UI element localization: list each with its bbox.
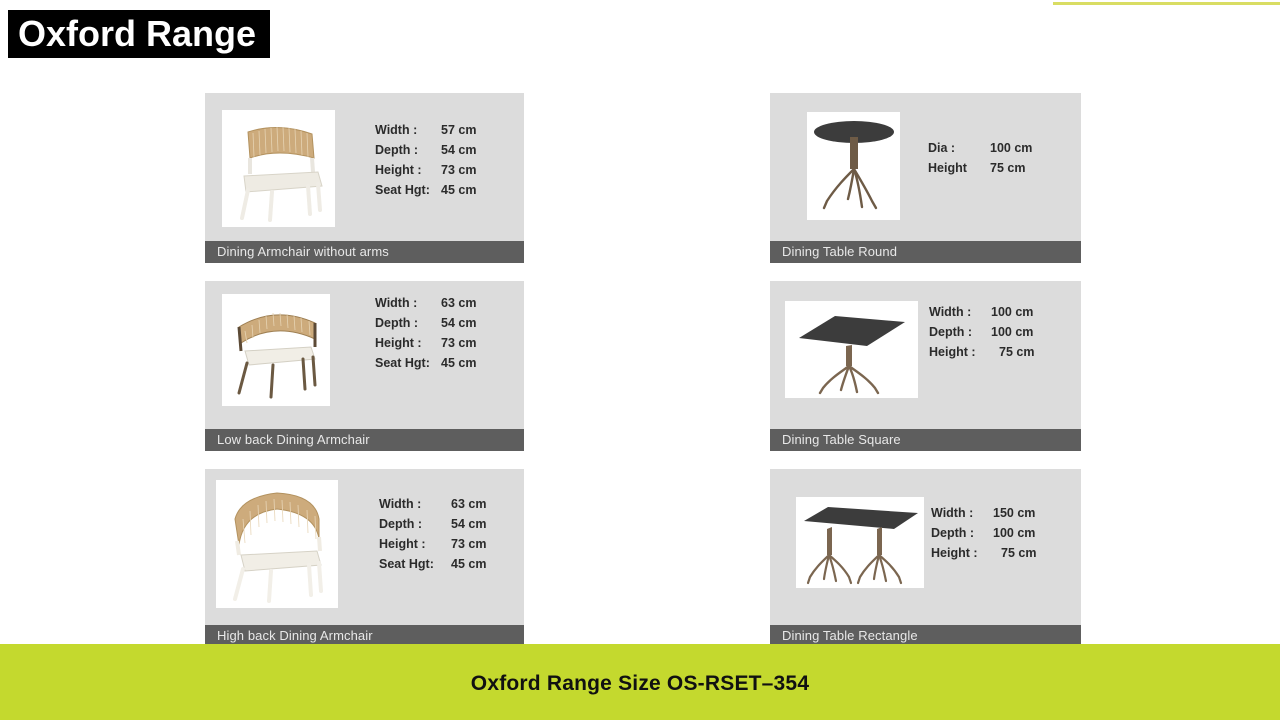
spec-row: Height : 73 cm [375, 160, 524, 180]
spec-row: Seat Hgt: 45 cm [375, 180, 524, 200]
spec-label: Depth : [379, 514, 451, 534]
spec-value: 73 cm [451, 534, 486, 554]
spec-label: Width : [375, 293, 441, 313]
tables-column: Dia : 100 cm Height 75 cm Dining Table R… [770, 93, 1081, 647]
card-body: Width : 63 cm Depth : 54 cm Height : 73 … [205, 469, 524, 625]
card-body: Width : 63 cm Depth : 54 cm Height : 73 … [205, 281, 524, 429]
card-gap [770, 451, 1081, 469]
spec-value: 73 cm [441, 160, 476, 180]
spec-label: Depth : [375, 313, 441, 333]
chair-no-arms-icon [226, 114, 331, 224]
spec-row: Seat Hgt: 45 cm [379, 554, 524, 574]
spec-label: Height : [379, 534, 451, 554]
card-label: Dining Table Square [770, 429, 1081, 451]
product-card[interactable]: Width : 100 cm Depth : 100 cm Height : 7… [770, 281, 1081, 451]
spec-value: 150 cm [993, 503, 1035, 523]
spec-list: Width : 150 cm Depth : 100 cm Height : 7… [931, 503, 1081, 563]
spec-row: Height : 73 cm [379, 534, 524, 554]
spec-label: Width : [375, 120, 441, 140]
spec-value: 75 cm [991, 342, 1034, 362]
table-square-icon [789, 304, 915, 396]
spec-list: Width : 63 cm Depth : 54 cm Height : 73 … [379, 494, 524, 574]
card-label: Dining Armchair without arms [205, 241, 524, 263]
chairs-column: Width : 57 cm Depth : 54 cm Height : 73 … [205, 93, 524, 647]
spec-row: Depth : 100 cm [929, 322, 1081, 342]
spec-value: 45 cm [451, 554, 486, 574]
spec-value: 57 cm [441, 120, 476, 140]
table-round-icon [810, 115, 898, 217]
product-card[interactable]: Dia : 100 cm Height 75 cm Dining Table R… [770, 93, 1081, 263]
spec-list: Dia : 100 cm Height 75 cm [928, 138, 1081, 178]
spec-list: Width : 100 cm Depth : 100 cm Height : 7… [929, 302, 1081, 362]
spec-value: 100 cm [991, 322, 1033, 342]
spec-value: 100 cm [993, 523, 1035, 543]
spec-value: 54 cm [441, 313, 476, 333]
card-body: Dia : 100 cm Height 75 cm [770, 93, 1081, 241]
spec-row: Height : 75 cm [929, 342, 1081, 362]
card-body: Width : 57 cm Depth : 54 cm Height : 73 … [205, 93, 524, 241]
product-thumbnail [222, 110, 335, 227]
spec-value: 54 cm [451, 514, 486, 534]
product-card[interactable]: Width : 57 cm Depth : 54 cm Height : 73 … [205, 93, 524, 263]
card-body: Width : 150 cm Depth : 100 cm Height : 7… [770, 469, 1081, 625]
spec-label: Dia : [928, 138, 990, 158]
card-gap [205, 263, 524, 281]
spec-label: Depth : [375, 140, 441, 160]
spec-label: Height : [375, 333, 441, 353]
spec-row: Height : 73 cm [375, 333, 524, 353]
card-gap [770, 263, 1081, 281]
spec-row: Width : 57 cm [375, 120, 524, 140]
spec-label: Depth : [929, 322, 991, 342]
spec-value: 73 cm [441, 333, 476, 353]
product-card[interactable]: Width : 150 cm Depth : 100 cm Height : 7… [770, 469, 1081, 647]
spec-value: 45 cm [441, 353, 476, 373]
spec-label: Width : [931, 503, 993, 523]
product-thumbnail [796, 497, 924, 588]
top-accent-rule [1053, 2, 1280, 5]
spec-value: 100 cm [990, 138, 1032, 158]
chair-low-back-icon [225, 297, 327, 403]
spec-row: Depth : 54 cm [375, 140, 524, 160]
spec-row: Height 75 cm [928, 158, 1081, 178]
card-body: Width : 100 cm Depth : 100 cm Height : 7… [770, 281, 1081, 429]
spec-row: Depth : 100 cm [931, 523, 1081, 543]
spec-row: Height : 75 cm [931, 543, 1081, 563]
spec-value: 63 cm [451, 494, 486, 514]
spec-row: Seat Hgt: 45 cm [375, 353, 524, 373]
spec-label: Seat Hgt: [375, 353, 441, 373]
chair-high-back-icon [219, 483, 335, 605]
spec-value: 54 cm [441, 140, 476, 160]
card-label: Dining Table Round [770, 241, 1081, 263]
spec-list: Width : 63 cm Depth : 54 cm Height : 73 … [375, 293, 524, 373]
spec-value: 75 cm [990, 158, 1048, 178]
card-gap [205, 451, 524, 469]
page-title: Oxford Range [8, 10, 270, 58]
table-rectangle-icon [798, 499, 922, 587]
spec-label: Depth : [931, 523, 993, 543]
spec-label: Seat Hgt: [375, 180, 441, 200]
footer-bar: Oxford Range Size OS-RSET–354 [0, 644, 1280, 720]
spec-label: Height [928, 158, 990, 178]
product-thumbnail [785, 301, 918, 398]
product-card[interactable]: Width : 63 cm Depth : 54 cm Height : 73 … [205, 281, 524, 451]
spec-value: 45 cm [441, 180, 476, 200]
spec-row: Depth : 54 cm [379, 514, 524, 534]
spec-label: Seat Hgt: [379, 554, 451, 574]
product-thumbnail [222, 294, 330, 406]
product-card[interactable]: Width : 63 cm Depth : 54 cm Height : 73 … [205, 469, 524, 647]
spec-row: Width : 63 cm [375, 293, 524, 313]
spec-row: Width : 100 cm [929, 302, 1081, 322]
spec-label: Width : [929, 302, 991, 322]
spec-row: Width : 150 cm [931, 503, 1081, 523]
spec-row: Dia : 100 cm [928, 138, 1081, 158]
spec-label: Height : [931, 543, 993, 563]
card-label: Low back Dining Armchair [205, 429, 524, 451]
footer-title: Oxford Range Size OS-RSET–354 [0, 672, 1280, 696]
spec-row: Width : 63 cm [379, 494, 524, 514]
spec-value: 75 cm [993, 543, 1036, 563]
spec-value: 100 cm [991, 302, 1033, 322]
spec-row: Depth : 54 cm [375, 313, 524, 333]
spec-label: Width : [379, 494, 451, 514]
spec-list: Width : 57 cm Depth : 54 cm Height : 73 … [375, 120, 524, 200]
spec-value: 63 cm [441, 293, 476, 313]
spec-label: Height : [929, 342, 991, 362]
product-thumbnail [807, 112, 900, 220]
spec-label: Height : [375, 160, 441, 180]
product-thumbnail [216, 480, 338, 608]
